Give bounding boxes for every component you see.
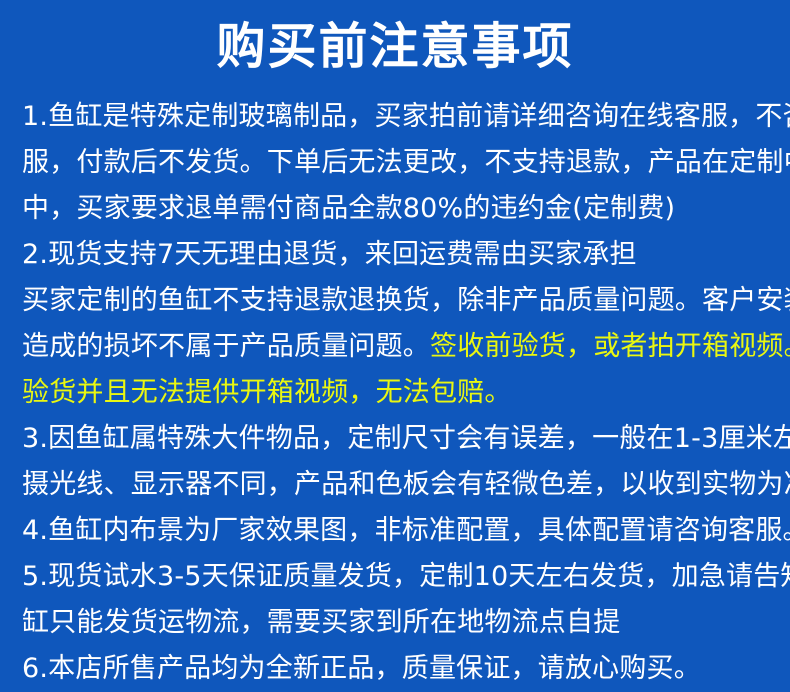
notice-line: 摄光线、显示器不同，产品和色板会有轻微色差，以收到实物为准。 xyxy=(22,462,770,508)
notice-line: 6.本店所售产品均为全新正品，质量保证，请放心购买。 xyxy=(22,646,770,692)
notice-line: 买家定制的鱼缸不支持退款退换货，除非产品质量问题。客户安装使用不当 xyxy=(22,278,770,324)
notice-line-highlight: 验货并且无法提供开箱视频，无法包赔。 xyxy=(22,370,770,416)
notice-segment-plain: 造成的损坏不属于产品质量问题。 xyxy=(22,331,430,362)
notice-line: 4.鱼缸内布景为厂家效果图，非标准配置，具体配置请咨询客服。 xyxy=(22,508,770,554)
notice-line: 5.现货试水3-5天保证质量发货，定制10天左右发货，加急请告知客服。鱼 xyxy=(22,554,770,600)
notice-line: 服，付款后不发货。下单后无法更改，不支持退款，产品在定制中或发货途 xyxy=(22,140,770,186)
page-title: 购买前注意事项 xyxy=(0,0,790,71)
notice-segment-highlight: 签收前验货，或者拍开箱视频。签收前未 xyxy=(430,331,790,362)
notice-text-block: 1.鱼缸是特殊定制玻璃制品，买家拍前请详细咨询在线客服，不咨询在线客 服，付款后… xyxy=(0,94,790,692)
notice-line: 1.鱼缸是特殊定制玻璃制品，买家拍前请详细咨询在线客服，不咨询在线客 xyxy=(22,94,770,140)
notice-line: 缸只能发货运物流，需要买家到所在地物流点自提 xyxy=(22,600,770,646)
notice-line: 中，买家要求退单需付商品全款80%的违约金(定制费) xyxy=(22,186,770,232)
purchase-notice-banner: 购买前注意事项 1.鱼缸是特殊定制玻璃制品，买家拍前请详细咨询在线客服，不咨询在… xyxy=(0,0,790,692)
notice-line-mixed: 造成的损坏不属于产品质量问题。签收前验货，或者拍开箱视频。签收前未 xyxy=(22,324,770,370)
notice-line: 3.因鱼缸属特殊大件物品，定制尺寸会有误差，一般在1-3厘米左右。因拍 xyxy=(22,416,770,462)
notice-line: 2.现货支持7天无理由退货，来回运费需由买家承担 xyxy=(22,232,770,278)
